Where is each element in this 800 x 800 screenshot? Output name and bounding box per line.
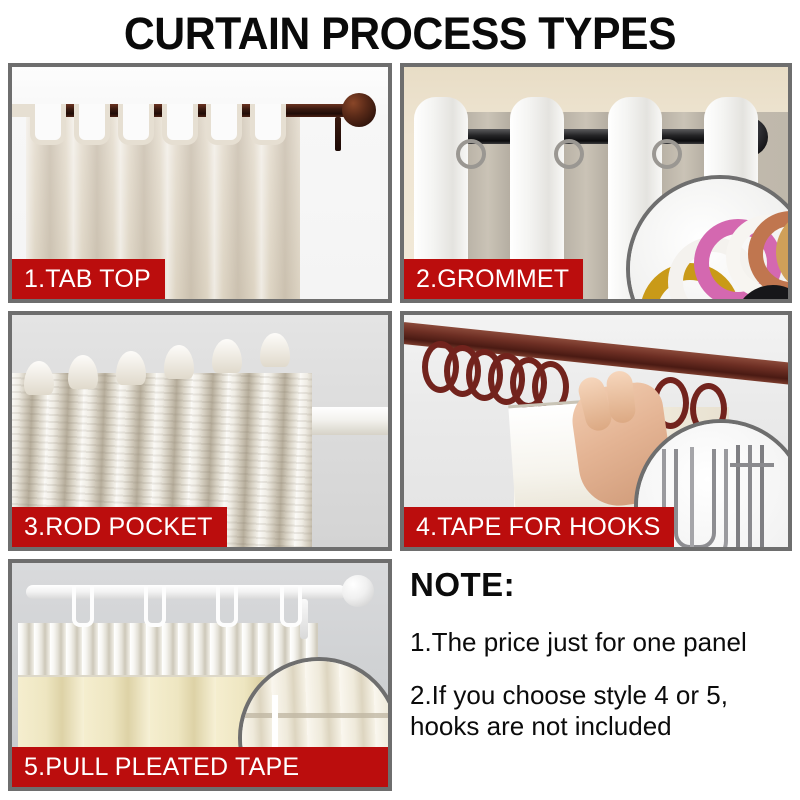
- grommet-ring: [554, 139, 584, 169]
- note-item-2: 2.If you choose style 4 or 5, hooks are …: [410, 680, 796, 742]
- curtain-hook: [216, 585, 238, 627]
- panel-rod-pocket[interactable]: 3.ROD POCKET: [8, 311, 392, 551]
- curtain-hook: [144, 585, 166, 627]
- panel-label-pull-pleated-tape: 5.PULL PLEATED TAPE: [12, 747, 388, 787]
- hook-prong: [760, 445, 764, 547]
- curtain-hook: [280, 585, 302, 627]
- tape-cord-channel: [242, 713, 388, 718]
- hook-prong: [736, 445, 740, 547]
- infographic-page: CURTAIN PROCESS TYPES 1.TAB TOP: [0, 0, 800, 800]
- fabric-tab: [250, 104, 286, 145]
- panel-tape-for-hooks[interactable]: 4.TAPE FOR HOOKS: [400, 311, 792, 551]
- inset-grommet-rings: [626, 175, 788, 299]
- panel-label-grommet: 2.GROMMET: [404, 259, 583, 299]
- hook-crossbar: [730, 463, 774, 467]
- hook-stem: [690, 447, 694, 547]
- curtain-hook: [72, 585, 94, 627]
- rod-bracket: [335, 117, 341, 151]
- rod-finial: [342, 575, 374, 607]
- hook-prong: [748, 445, 752, 547]
- grommet-ring: [456, 139, 486, 169]
- fabric-tab: [30, 104, 66, 145]
- fabric-tab: [206, 104, 242, 145]
- panel-tab-top[interactable]: 1.TAB TOP: [8, 63, 392, 303]
- pinch-pleat-hook: [674, 449, 716, 547]
- panel-label-tab-top: 1.TAB TOP: [12, 259, 165, 299]
- panel-pull-pleated-tape[interactable]: 5.PULL PLEATED TAPE: [8, 559, 392, 791]
- panel-label-rod-pocket: 3.ROD POCKET: [12, 507, 227, 547]
- note-block: NOTE: 1.The price just for one panel 2.I…: [410, 565, 796, 742]
- note-title: NOTE:: [410, 565, 796, 605]
- rod-finial: [342, 93, 376, 127]
- fabric-tab: [162, 104, 198, 145]
- panel-grommet[interactable]: 2.GROMMET: [400, 63, 792, 303]
- grommet-ring: [652, 139, 682, 169]
- fabric-tab: [118, 104, 154, 145]
- note-item-1: 1.The price just for one panel: [410, 627, 796, 658]
- panel-label-tape-for-hooks: 4.TAPE FOR HOOKS: [404, 507, 674, 547]
- page-title: CURTAIN PROCESS TYPES: [20, 8, 780, 60]
- fabric-tab: [74, 104, 110, 145]
